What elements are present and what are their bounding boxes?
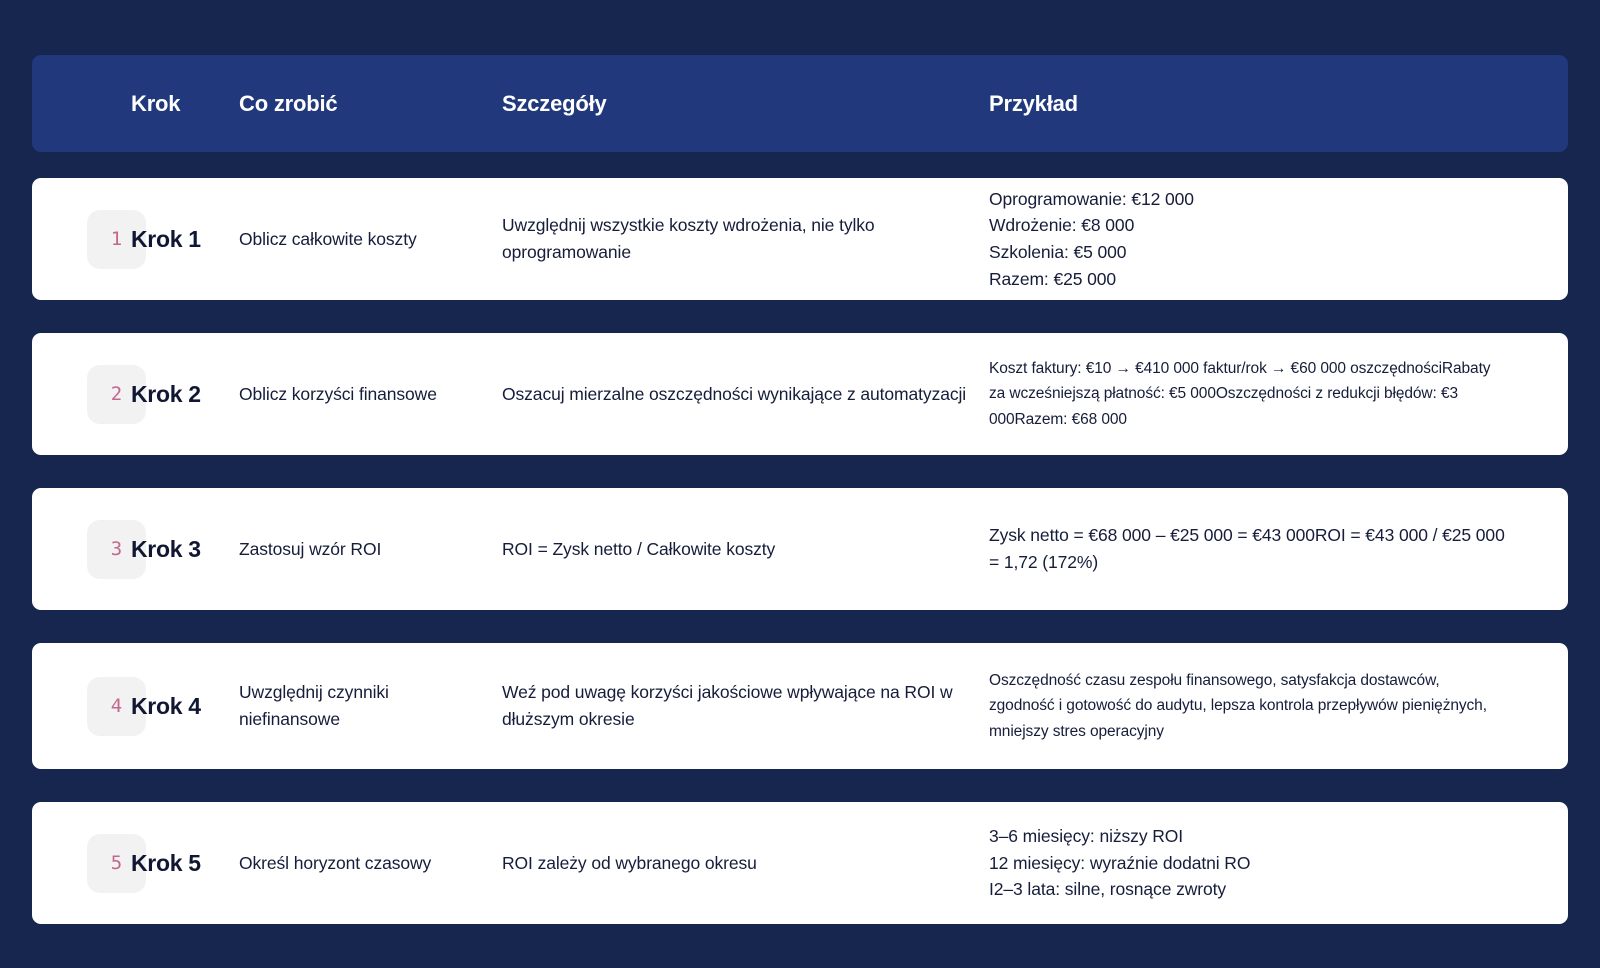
step-title: Krok 1 — [131, 226, 201, 253]
step-details: Oszacuj mierzalne oszczędności wynikając… — [502, 381, 972, 408]
table-row[interactable]: 3 Krok 3 Zastosuj wzór ROI ROI = Zysk ne… — [32, 488, 1568, 610]
example-line: Szkolenia: €5 000 — [989, 239, 1509, 266]
step-example: Oszczędność czasu zespołu finansowego, s… — [989, 668, 1509, 743]
roi-steps-table-page: Krok Co zrobić Szczegóły Przykład 1 Krok… — [0, 0, 1600, 968]
step-details: ROI zależy od wybranego okresu — [502, 850, 972, 877]
example-line: Wdrożenie: €8 000 — [989, 212, 1509, 239]
step-action: Uwzględnij czynniki niefinansowe — [239, 679, 489, 732]
example-line: Koszt faktury: €10 → €410 000 faktur/rok… — [989, 356, 1509, 431]
table-row[interactable]: 5 Krok 5 Określ horyzont czasowy ROI zal… — [32, 802, 1568, 924]
column-header-co-zrobic: Co zrobić — [239, 91, 337, 117]
step-title: Krok 4 — [131, 693, 201, 720]
column-header-przyklad: Przykład — [989, 91, 1078, 117]
example-line: 3–6 miesięcy: niższy ROI — [989, 823, 1509, 850]
step-example: 3–6 miesięcy: niższy ROI 12 miesięcy: wy… — [989, 823, 1509, 903]
step-title: Krok 3 — [131, 536, 201, 563]
table-body: 1 Krok 1 Oblicz całkowite koszty Uwzględ… — [32, 178, 1568, 924]
step-title: Krok 5 — [131, 850, 201, 877]
table-row[interactable]: 2 Krok 2 Oblicz korzyści finansowe Oszac… — [32, 333, 1568, 455]
example-line: Razem: €25 000 — [989, 266, 1509, 293]
step-title: Krok 2 — [131, 381, 201, 408]
example-line: Oszczędność czasu zespołu finansowego, s… — [989, 668, 1509, 743]
step-details: Weź pod uwagę korzyści jakościowe wpływa… — [502, 679, 972, 732]
example-line: 12 miesięcy: wyraźnie dodatni RO — [989, 850, 1509, 877]
step-action: Oblicz całkowite koszty — [239, 226, 489, 253]
table-row[interactable]: 1 Krok 1 Oblicz całkowite koszty Uwzględ… — [32, 178, 1568, 300]
step-action: Zastosuj wzór ROI — [239, 536, 489, 563]
example-line: Zysk netto = €68 000 – €25 000 = €43 000… — [989, 522, 1509, 575]
step-action: Oblicz korzyści finansowe — [239, 381, 489, 408]
example-line: I2–3 lata: silne, rosnące zwroty — [989, 876, 1509, 903]
column-header-krok: Krok — [131, 91, 180, 117]
step-details: ROI = Zysk netto / Całkowite koszty — [502, 536, 972, 563]
table-header-bar: Krok Co zrobić Szczegóły Przykład — [32, 55, 1568, 152]
example-line: Oprogramowanie: €12 000 — [989, 186, 1509, 213]
step-details: Uwzględnij wszystkie koszty wdrożenia, n… — [502, 212, 972, 265]
step-example: Zysk netto = €68 000 – €25 000 = €43 000… — [989, 522, 1509, 575]
step-example: Koszt faktury: €10 → €410 000 faktur/rok… — [989, 356, 1509, 431]
step-example: Oprogramowanie: €12 000 Wdrożenie: €8 00… — [989, 186, 1509, 292]
table-row[interactable]: 4 Krok 4 Uwzględnij czynniki niefinansow… — [32, 643, 1568, 769]
column-header-szczegoly: Szczegóły — [502, 91, 607, 117]
step-action: Określ horyzont czasowy — [239, 850, 489, 877]
